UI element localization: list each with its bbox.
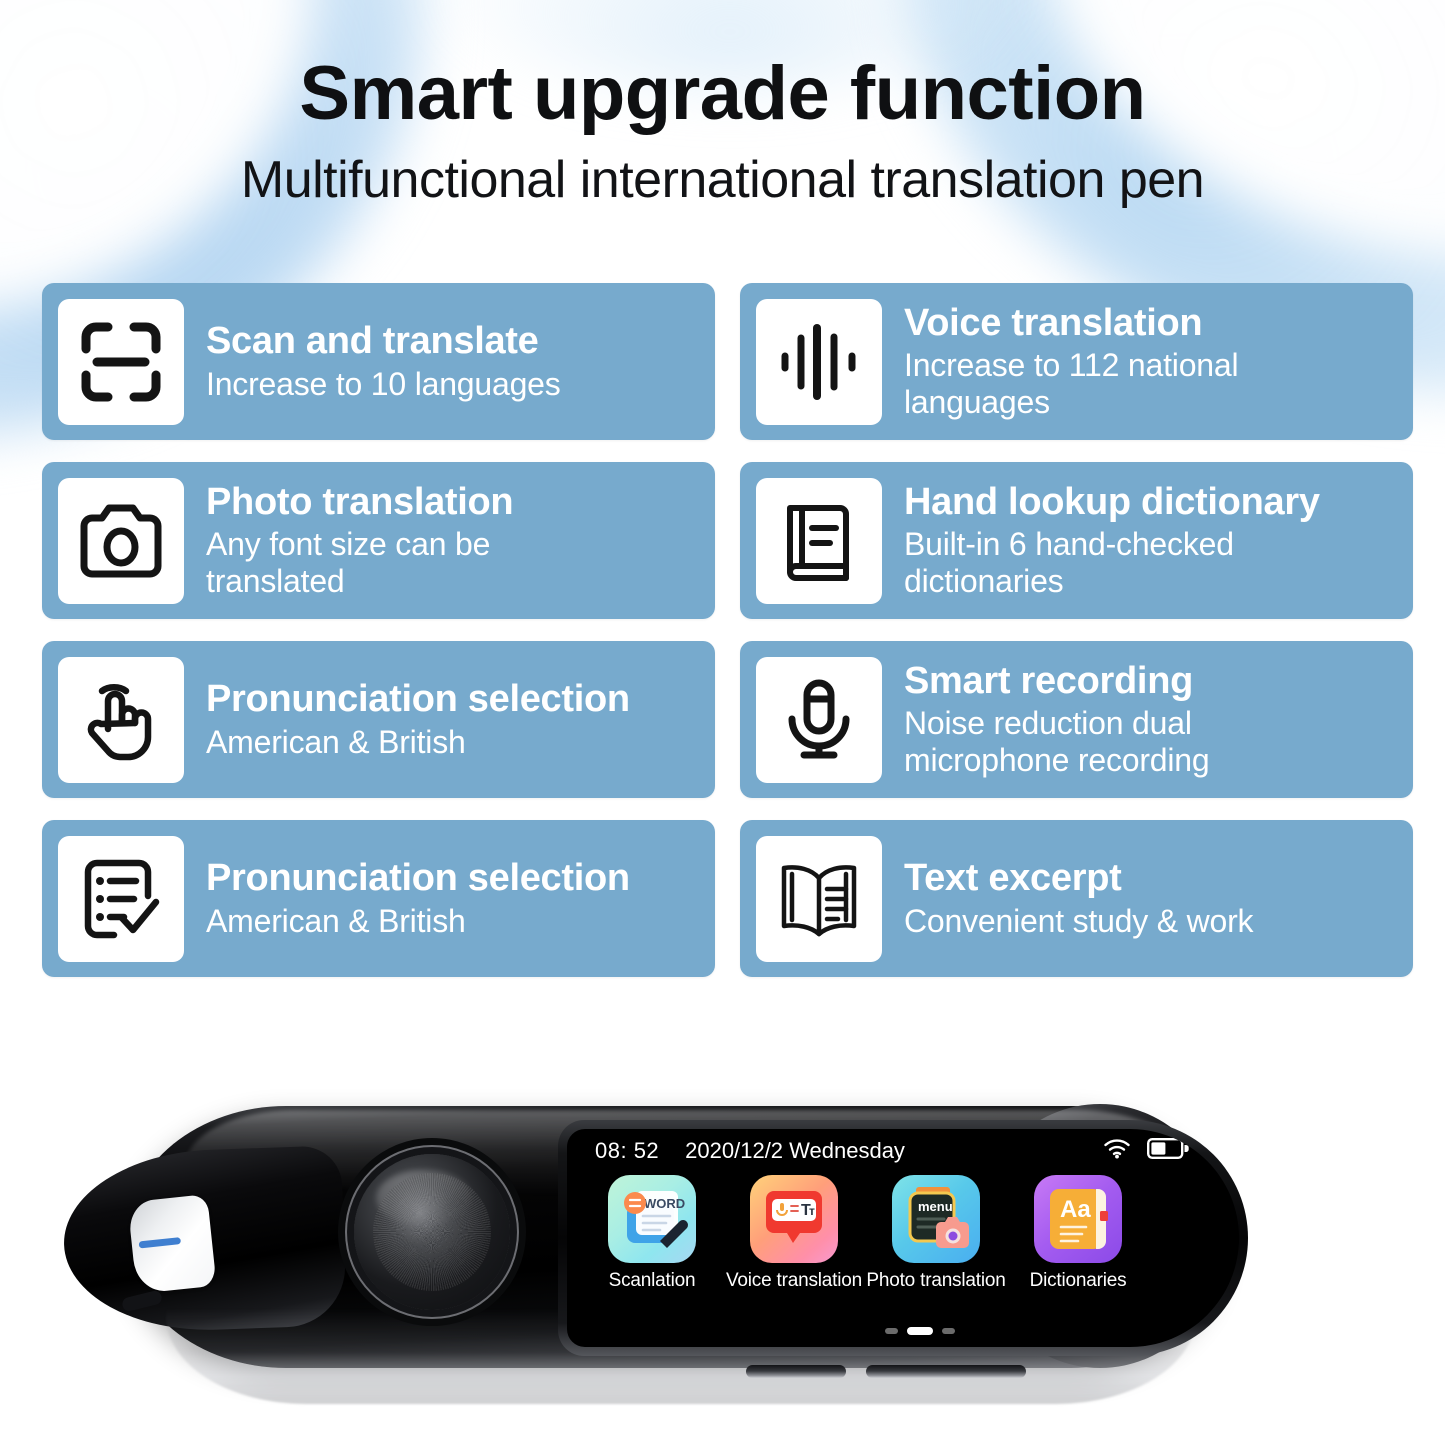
- feature-subtitle: Any font size can be translated: [206, 526, 576, 600]
- svg-text:Aa: Aa: [1060, 1196, 1091, 1223]
- feature-title: Scan and translate: [206, 320, 561, 363]
- icon-tile: [58, 836, 184, 962]
- app-label: Photo translation: [866, 1270, 1005, 1292]
- icon-tile: [58, 299, 184, 425]
- scanner-tip: [127, 1194, 216, 1294]
- card-text: Pronunciation selection American & Briti…: [184, 857, 640, 940]
- feature-subtitle: Increase to 10 languages: [206, 366, 561, 403]
- feature-card-pronunciation-selection-hand[interactable]: Pronunciation selection American & Briti…: [42, 641, 715, 798]
- icon-tile: [756, 657, 882, 783]
- icon-tile: [756, 836, 882, 962]
- page-title: Smart upgrade function: [0, 56, 1445, 132]
- feature-card-text-excerpt[interactable]: Text excerpt Convenient study & work: [740, 820, 1413, 977]
- feature-subtitle: American & British: [206, 724, 630, 761]
- card-text: Smart recording Noise reduction dual mic…: [882, 660, 1334, 780]
- feature-card-photo-translation[interactable]: Photo translation Any font size can be t…: [42, 462, 715, 619]
- feature-card-voice-translation[interactable]: Voice translation Increase to 112 nation…: [740, 283, 1413, 440]
- side-button-power[interactable]: [866, 1365, 1026, 1378]
- status-date: 2020/12/2 Wednesday: [685, 1138, 905, 1164]
- app-item-photo-translation[interactable]: menu Photo transl: [865, 1175, 1007, 1292]
- card-text: Voice translation Increase to 112 nation…: [882, 302, 1394, 422]
- screen-bezel: 08: 52 2020/12/2 Wednesday: [558, 1120, 1248, 1356]
- app-label: Dictionaries: [1030, 1270, 1127, 1292]
- page-dot-2-active[interactable]: [907, 1327, 933, 1335]
- svg-text:menu: menu: [918, 1199, 953, 1214]
- card-text: Text excerpt Convenient study & work: [882, 857, 1263, 940]
- card-text: Hand lookup dictionary Built-in 6 hand-c…: [882, 481, 1364, 601]
- scanner-tip-stripe: [139, 1237, 182, 1248]
- checklist-icon: [78, 856, 164, 942]
- book-closed-icon: [776, 498, 862, 584]
- feature-card-smart-recording[interactable]: Smart recording Noise reduction dual mic…: [740, 641, 1413, 798]
- photo-translation-app-icon[interactable]: menu: [892, 1175, 980, 1263]
- wifi-icon: [1103, 1138, 1131, 1164]
- feature-subtitle: Built-in 6 hand-checked dictionaries: [904, 526, 1354, 600]
- translation-pen-device: 08: 52 2020/12/2 Wednesday: [126, 1098, 1221, 1398]
- feature-subtitle: Convenient study & work: [904, 903, 1253, 940]
- page-dot-1[interactable]: [885, 1328, 898, 1334]
- feature-title: Pronunciation selection: [206, 857, 630, 900]
- home-wheel-texture: [373, 1173, 491, 1291]
- feature-title: Photo translation: [206, 481, 576, 524]
- card-text: Scan and translate Increase to 10 langua…: [184, 320, 571, 403]
- icon-tile: [756, 299, 882, 425]
- battery-icon: [1147, 1138, 1189, 1164]
- feature-title: Pronunciation selection: [206, 678, 630, 721]
- status-indicators: [1103, 1138, 1189, 1164]
- feature-subtitle: Noise reduction dual microphone recordin…: [904, 705, 1324, 779]
- icon-tile: [58, 657, 184, 783]
- app-item-dictionaries[interactable]: Aa Dictionaries: [1007, 1175, 1149, 1292]
- feature-title: Voice translation: [904, 302, 1384, 345]
- side-button-scan[interactable]: [746, 1365, 846, 1378]
- scan-frame-icon: [78, 319, 164, 405]
- device-screen[interactable]: 08: 52 2020/12/2 Wednesday: [567, 1129, 1239, 1347]
- icon-tile: [756, 478, 882, 604]
- svg-text:т: т: [809, 1204, 815, 1218]
- scanlation-app-icon[interactable]: WORD: [608, 1175, 696, 1263]
- feature-title: Smart recording: [904, 660, 1324, 703]
- voice-translation-app-icon[interactable]: T т: [750, 1175, 838, 1263]
- card-text: Pronunciation selection American & Briti…: [184, 678, 640, 761]
- header: Smart upgrade function Multifunctional i…: [0, 0, 1445, 209]
- feature-card-hand-lookup-dictionary[interactable]: Hand lookup dictionary Built-in 6 hand-c…: [740, 462, 1413, 619]
- page-indicator[interactable]: [885, 1327, 955, 1335]
- microphone-icon: [776, 677, 862, 763]
- dictionaries-app-icon[interactable]: Aa: [1034, 1175, 1122, 1263]
- feature-card-pronunciation-selection-list[interactable]: Pronunciation selection American & Briti…: [42, 820, 715, 977]
- icon-tile: [58, 478, 184, 604]
- feature-title: Text excerpt: [904, 857, 1253, 900]
- feature-card-scan-and-translate[interactable]: Scan and translate Increase to 10 langua…: [42, 283, 715, 440]
- app-label: Voice translation: [726, 1270, 862, 1292]
- open-book-icon: [776, 856, 862, 942]
- card-text: Photo translation Any font size can be t…: [184, 481, 586, 601]
- app-grid: WORD: [567, 1175, 1239, 1292]
- app-item-scanlation[interactable]: WORD: [581, 1175, 723, 1292]
- app-label: Scanlation: [609, 1270, 696, 1292]
- svg-text:WORD: WORD: [644, 1196, 685, 1211]
- feature-subtitle: Increase to 112 national languages: [904, 347, 1384, 421]
- feature-title: Hand lookup dictionary: [904, 481, 1354, 524]
- camera-icon: [78, 498, 164, 584]
- status-bar: 08: 52 2020/12/2 Wednesday: [567, 1129, 1239, 1173]
- app-item-voice-translation[interactable]: T т Voice translation: [723, 1175, 865, 1292]
- home-wheel-button[interactable]: [354, 1154, 510, 1310]
- feature-grid: Scan and translate Increase to 10 langua…: [42, 283, 1413, 977]
- device-photo-area: 08: 52 2020/12/2 Wednesday: [0, 1040, 1445, 1445]
- page-dot-3[interactable]: [942, 1328, 955, 1334]
- voice-waveform-icon: [776, 319, 862, 405]
- pointing-hand-icon: [78, 677, 164, 763]
- feature-subtitle: American & British: [206, 903, 630, 940]
- page-subtitle: Multifunctional international translatio…: [0, 152, 1445, 209]
- status-time: 08: 52: [595, 1138, 659, 1164]
